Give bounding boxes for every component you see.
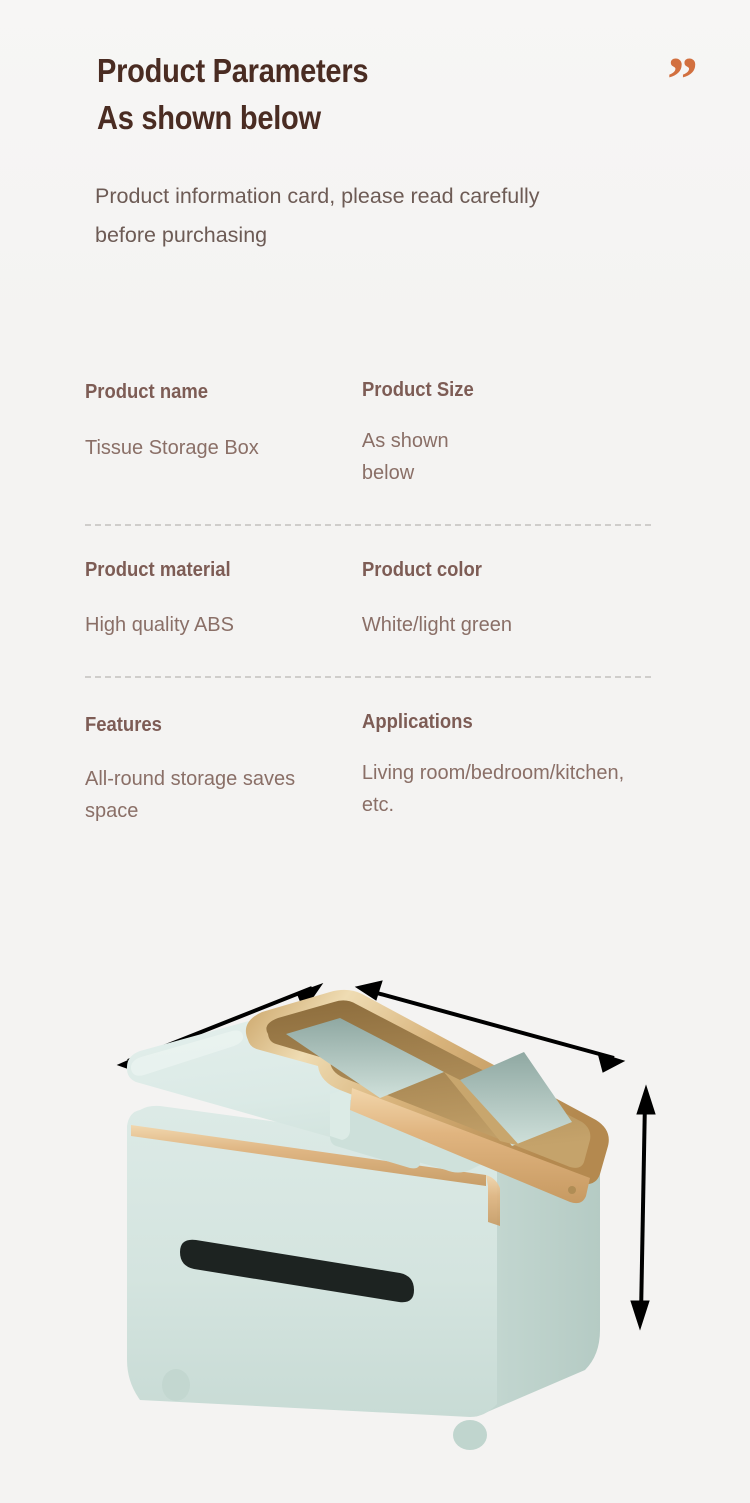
spec-value: As shown below [362,425,655,490]
quote-mark-icon: ” [652,58,698,100]
spec-cell-product-size: Product Size As shown below [362,380,655,489]
lid-handle-tab-face [330,1088,350,1140]
spec-value: High quality ABS [85,609,352,641]
spec-cell-product-color: Product color White/light green [362,558,655,641]
spec-value: White/light green [362,609,655,641]
spec-cell-product-material: Product material High quality ABS [85,558,362,641]
spec-row: Product material High quality ABS Produc… [85,558,655,641]
row-spacer [85,678,655,710]
product-image [0,930,750,1503]
spec-label: Features [85,713,325,738]
spec-value: All-round storage saves space [85,763,352,828]
row-spacer [85,526,655,558]
spec-row: Features All-round storage saves space A… [85,710,655,827]
page-subtitle: Product information card, please read ca… [95,177,675,255]
row-spacer [85,641,655,676]
spec-label: Product name [85,380,325,405]
spec-label: Product color [362,558,626,583]
spec-value: Tissue Storage Box [85,432,352,464]
height-arrow [631,1086,655,1329]
spec-cell-features: Features All-round storage saves space [85,710,362,827]
box-foot-front [453,1420,487,1450]
spec-value: Living room/bedroom/kitchen, etc. [362,757,655,822]
spec-table: Product name Tissue Storage Box Product … [85,380,655,828]
tissue-box [127,990,609,1450]
page-title: Product Parameters As shown below [97,48,555,142]
spec-label: Applications [362,710,626,735]
spec-label: Product Size [362,378,626,403]
spec-cell-product-name: Product name Tissue Storage Box [85,380,362,489]
row-spacer [85,489,655,524]
spec-row: Product name Tissue Storage Box Product … [85,380,655,489]
spec-cell-applications: Applications Living room/bedroom/kitchen… [362,710,655,827]
lid-hinge-pin [568,1186,576,1194]
product-illustration [0,930,750,1503]
spec-label: Product material [85,558,325,583]
box-foot-left [162,1369,190,1401]
